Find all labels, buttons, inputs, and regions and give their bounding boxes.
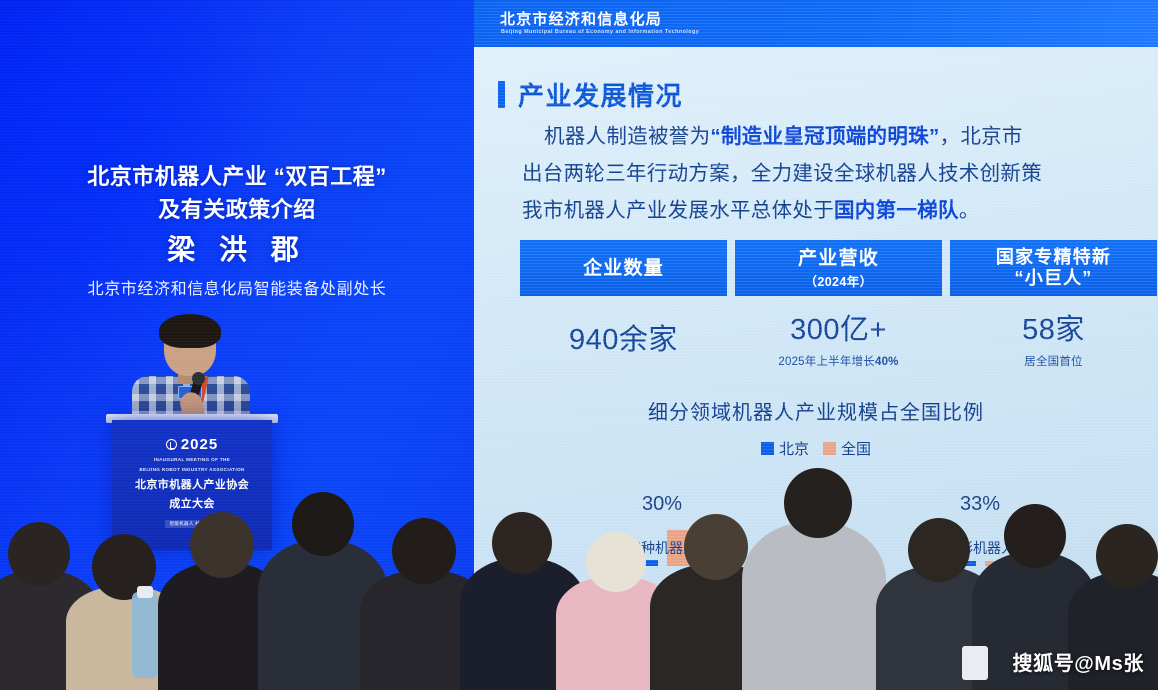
- left-screen-title-line1: 北京市机器人产业 “双百工程”: [0, 160, 474, 193]
- slide-body-text: 机器人制造被誉为“制造业皇冠顶端的明珠”，北京市 出台两轮三年行动方案，全力建设…: [522, 118, 1158, 229]
- audience-member-head: [784, 468, 852, 538]
- legend-item-beijing: 北京: [761, 438, 809, 459]
- stat-card-body: 300亿+ 2025年上半年增长40%: [735, 296, 942, 372]
- stat-note: 居全国首位: [1024, 353, 1083, 369]
- speaker-hair: [159, 314, 221, 348]
- audience-member-head: [586, 532, 646, 592]
- slide-header-organization-english: Beijing Municipal Bureau of Economy and …: [501, 29, 699, 35]
- title-accent-bar: [498, 81, 505, 108]
- stat-card-body: 940余家: [520, 296, 727, 372]
- body-line3-a: 我市机器人产业发展水平总体处于: [522, 199, 834, 222]
- stat-card-header: 产业营收 （2024年）: [735, 240, 942, 296]
- audience-member-head: [392, 518, 456, 584]
- stat-note: 2025年上半年增长40%: [778, 353, 898, 369]
- watermark: 搜狐号@Ms张: [1013, 647, 1145, 676]
- stat-note-emphasis: 40%: [875, 356, 899, 368]
- stat-card-little-giants: 国家专精特新 “小巨人” 58家 居全国首位: [950, 240, 1157, 372]
- slide-title: 产业发展情况: [518, 76, 683, 113]
- audience-silhouettes: [0, 460, 1158, 690]
- stat-cards: 企业数量 940余家 产业营收 （2024年） 300亿+ 2025年上半年增长…: [520, 240, 1158, 372]
- left-screen-title-line2: 及有关政策介绍: [0, 193, 474, 226]
- legend-label-national: 全国: [841, 438, 871, 459]
- body-line1-highlight: “制造业皇冠顶端的明珠”: [710, 125, 939, 148]
- stat-card-revenue: 产业营收 （2024年） 300亿+ 2025年上半年增长40%: [735, 240, 942, 372]
- slide-header-organization: 北京市经济和信息化局: [500, 8, 662, 29]
- body-line2: 出台两轮三年行动方案，全力建设全球机器人技术创新策: [522, 162, 1042, 185]
- screenshot-stage: 北京市机器人产业 “双百工程” 及有关政策介绍 梁 洪 郡 北京市经济和信息化局…: [0, 0, 1158, 690]
- audience-member-head: [292, 492, 354, 556]
- water-bottle: [132, 592, 158, 678]
- stat-header-line1: 国家专精特新: [996, 247, 1111, 268]
- slide-header-band: 北京市经济和信息化局 Beijing Municipal Bureau of E…: [474, 0, 1158, 47]
- chart-legend: 北京 全国: [474, 438, 1158, 459]
- audience-member-head: [190, 512, 254, 578]
- stat-header-line1: 产业营收: [798, 247, 879, 270]
- audience-member-head: [1096, 524, 1158, 588]
- slide-title-block: 产业发展情况: [498, 76, 683, 113]
- audience-member-head: [492, 512, 552, 574]
- audience-member-head: [8, 522, 70, 586]
- speaker-name: 梁 洪 郡: [0, 228, 474, 268]
- podium-year: 2025: [181, 436, 218, 453]
- audience-member-head: [908, 518, 970, 582]
- legend-swatch-national: [823, 442, 836, 455]
- audience-member-head: [684, 514, 748, 580]
- stat-value: 58家: [1022, 306, 1085, 348]
- body-line3-highlight: 国内第一梯队: [834, 199, 959, 222]
- legend-swatch-beijing: [761, 442, 774, 455]
- stat-header-line2: “小巨人”: [1015, 268, 1093, 289]
- legend-item-national: 全国: [823, 438, 871, 459]
- microphone-head-icon: [192, 372, 205, 385]
- stat-value: 940余家: [569, 316, 678, 358]
- water-cup: [962, 646, 988, 680]
- water-bottle-cap: [137, 586, 153, 598]
- stat-value: 300亿+: [790, 306, 887, 348]
- audience-member: [742, 522, 886, 690]
- stat-card-header: 企业数量: [520, 240, 727, 296]
- stat-note-text: 2025年上半年增长: [778, 356, 875, 368]
- podium-year-row: 2025: [112, 436, 272, 453]
- stat-header-line2: （2024年）: [804, 271, 872, 290]
- left-screen-title: 北京市机器人产业 “双百工程” 及有关政策介绍: [0, 160, 474, 226]
- stat-header-line1: 企业数量: [583, 257, 664, 280]
- stat-card-enterprises: 企业数量 940余家: [520, 240, 727, 372]
- body-line1-b: ，北京市: [940, 125, 1023, 148]
- stat-card-header: 国家专精特新 “小巨人”: [950, 240, 1157, 296]
- stat-card-body: 58家 居全国首位: [950, 296, 1157, 372]
- association-logo-icon: [166, 439, 177, 450]
- body-line3-b: 。: [959, 199, 980, 222]
- chart-title: 细分领域机器人产业规模占全国比例: [474, 396, 1158, 425]
- legend-label-beijing: 北京: [779, 438, 809, 459]
- body-line1-a: 机器人制造被誉为: [544, 125, 710, 148]
- speaker-role: 北京市经济和信息化局智能装备处副处长: [0, 275, 474, 299]
- audience-member-head: [1004, 504, 1066, 568]
